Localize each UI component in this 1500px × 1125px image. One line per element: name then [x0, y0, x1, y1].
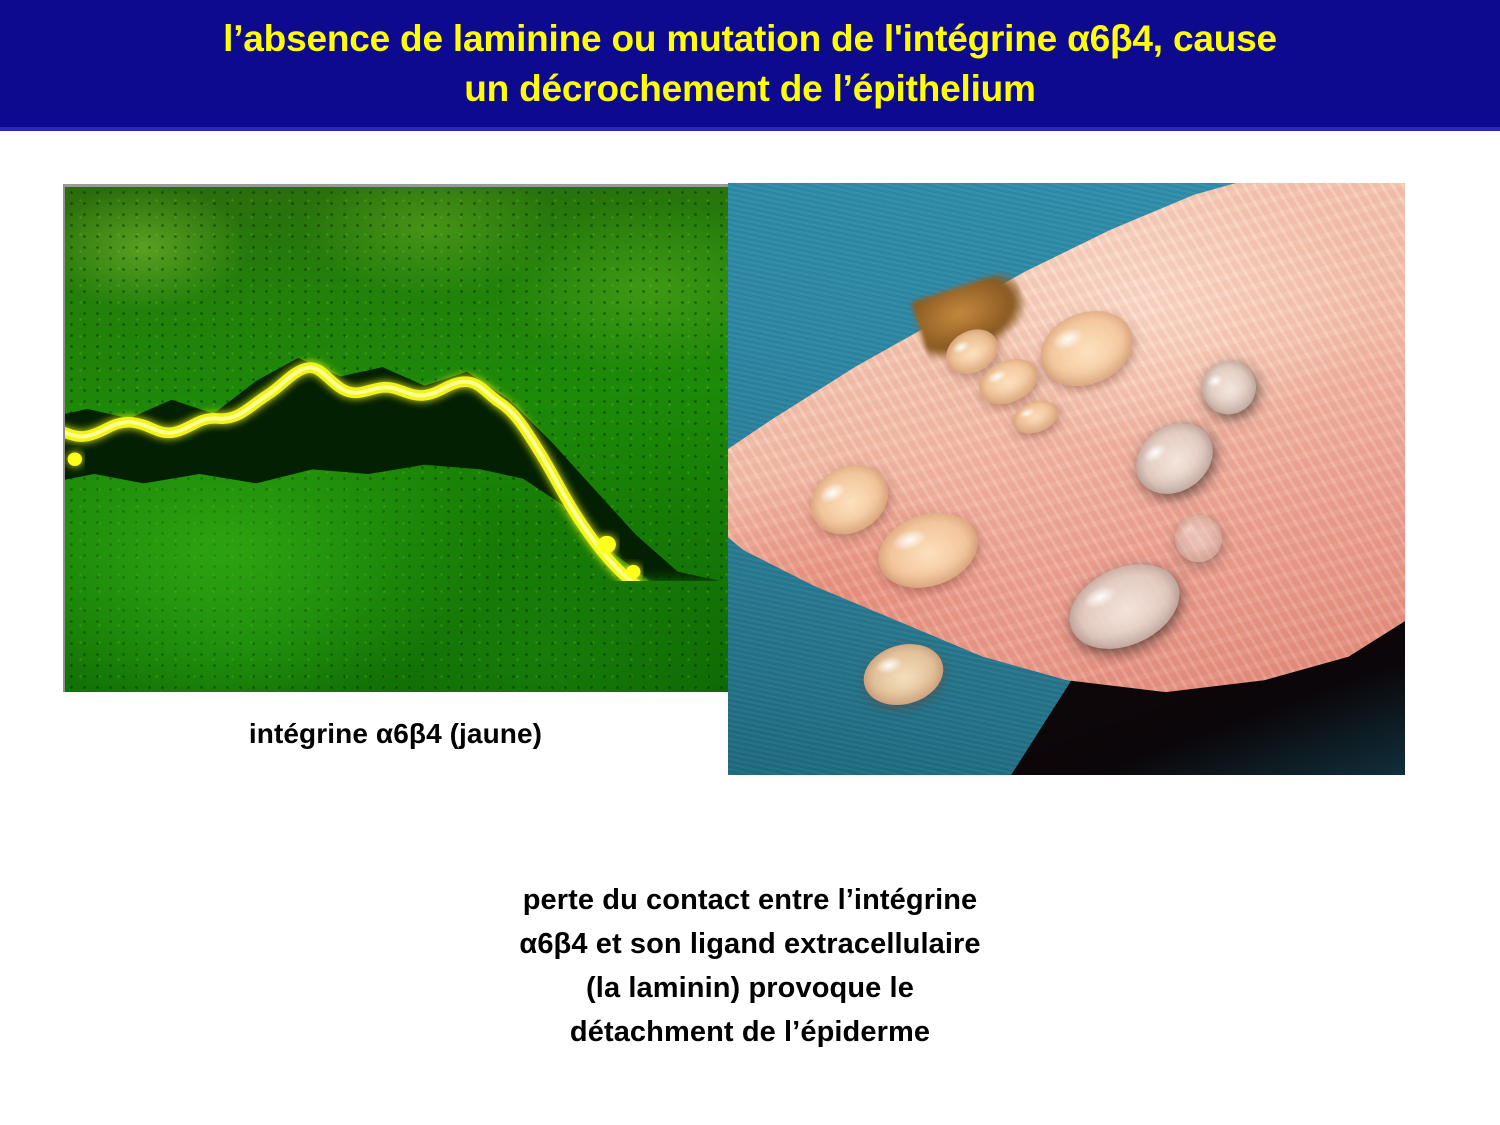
basement-membrane-signal: [63, 339, 728, 581]
explanation-line-2: α6β4 et son ligand extracellulaire: [0, 922, 1500, 966]
immunofluorescence-caption: intégrine α6β4 (jaune): [63, 716, 728, 752]
explanation-text: perte du contact entre l’intégrine α6β4 …: [0, 878, 1500, 1054]
explanation-line-4: détachment de l’épiderme: [0, 1010, 1500, 1054]
explanation-line-3: (la laminin) provoque le: [0, 966, 1500, 1010]
clinical-photo-image: [728, 183, 1405, 775]
explanation-line-1: perte du contact entre l’intégrine: [0, 878, 1500, 922]
immunofluorescence-image: [63, 184, 728, 692]
